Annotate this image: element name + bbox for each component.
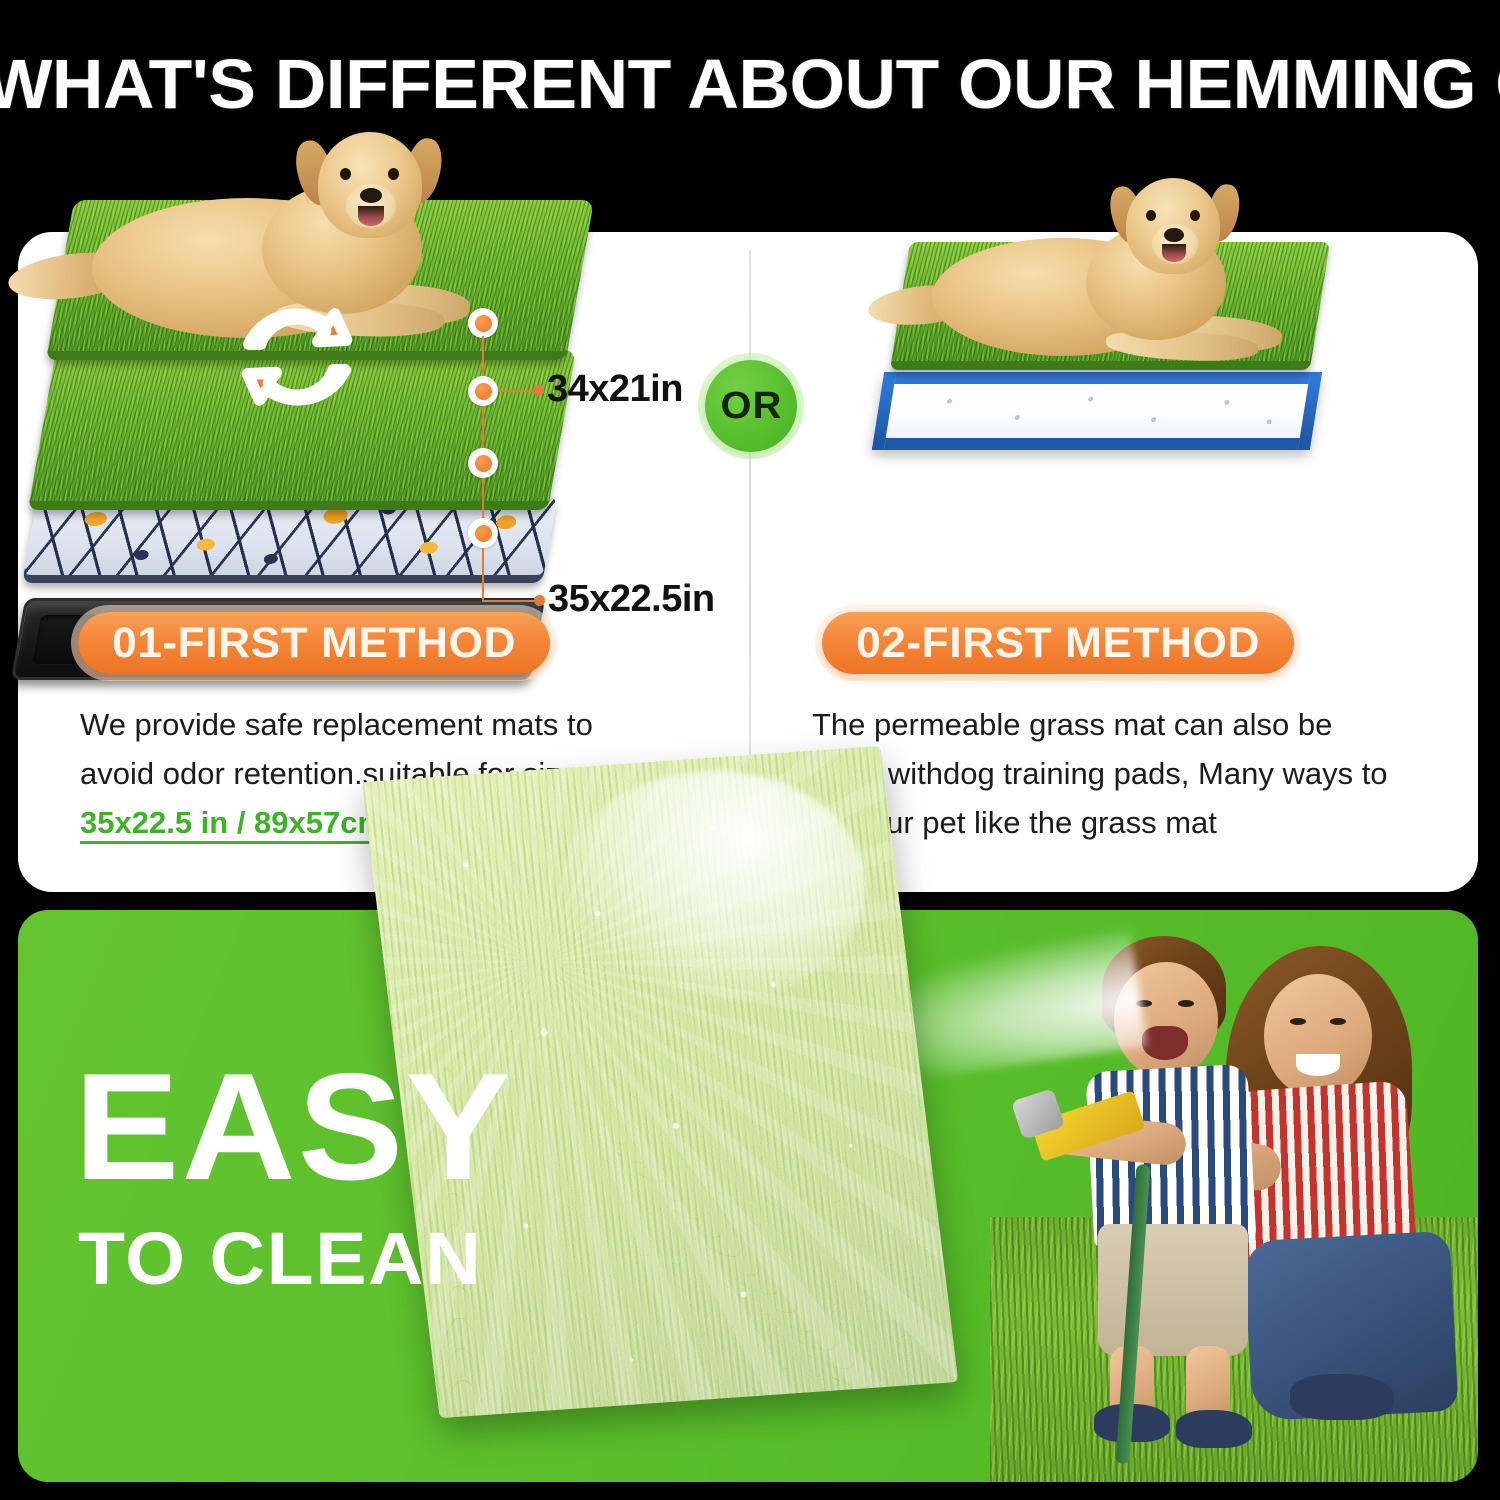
marker-dot-second <box>468 376 498 406</box>
or-badge-label: OR <box>720 385 782 428</box>
method-02-line-2: used withdog training pads, Many ways to <box>812 749 1388 798</box>
training-pad-layer <box>872 372 1322 450</box>
banner-headline: EASY <box>74 1052 513 1202</box>
permeable-grass-mat-layer <box>890 242 1330 370</box>
callout-line-34x21 <box>498 390 538 392</box>
method-02-badge: 02-FIRST METHOD <box>822 612 1294 674</box>
callout-line-35x22 <box>482 600 540 602</box>
boy-open-mouth <box>1142 1026 1188 1060</box>
method-01-badge-label: 01-FIRST METHOD <box>112 619 516 668</box>
banner-subline: TO CLEAN <box>78 1222 482 1296</box>
boy-shorts <box>1098 1224 1248 1356</box>
callout-tip-34x21 <box>533 385 544 396</box>
or-badge: OR <box>705 360 797 452</box>
marker-dot-bottom <box>468 518 498 548</box>
method-01-size-highlight: 35x22.5 in / 89x57cm <box>80 805 385 844</box>
refresh-swap-icon <box>232 292 362 422</box>
method-01-line-1: We provide safe replacement mats to <box>80 700 593 749</box>
woman-smile <box>1296 1054 1340 1076</box>
training-pad-pattern <box>886 384 1309 438</box>
method-02-badge-label: 02-FIRST METHOD <box>856 619 1260 668</box>
marker-line-vertical-top <box>482 336 484 378</box>
marker-dot-top <box>468 308 498 338</box>
marker-line-vertical-mid <box>482 406 484 450</box>
boy-shoe-right <box>1176 1410 1252 1448</box>
callout-tip-35x22 <box>534 595 545 606</box>
boy-eye-right <box>1178 1000 1194 1007</box>
dimension-label-tray: 35x22.5in <box>548 578 715 621</box>
infographic-root: WHAT'S DIFFERENT ABOUT OUR HEMMING GRASS… <box>0 0 1500 1500</box>
page-title: WHAT'S DIFFERENT ABOUT OUR HEMMING GRASS… <box>0 44 1500 124</box>
dimension-label-mat: 34x21in <box>547 368 683 411</box>
woman-eye-right <box>1330 1018 1346 1025</box>
woman-eye-left <box>1290 1018 1306 1025</box>
marker-dot-third <box>468 448 498 478</box>
method-01-badge: 01-FIRST METHOD <box>78 612 550 674</box>
method-02-line-1: The permeable grass mat can also be <box>812 700 1332 749</box>
woman-face <box>1264 974 1372 1098</box>
marker-line-vertical-bottom <box>482 548 484 602</box>
marker-line-vertical-lower <box>482 478 484 520</box>
woman-shoe <box>1290 1374 1394 1420</box>
